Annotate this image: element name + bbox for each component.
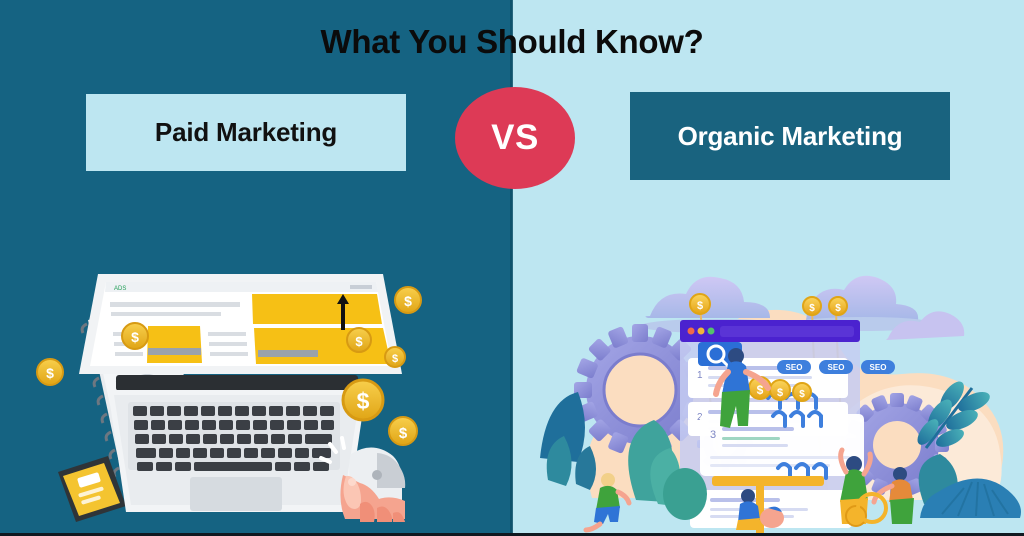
coin: $ bbox=[793, 383, 811, 401]
coin: $ bbox=[803, 297, 821, 315]
laptop-base bbox=[108, 375, 366, 512]
svg-text:SEO: SEO bbox=[870, 363, 887, 372]
paid-marketing-illustration: ADS bbox=[30, 262, 470, 532]
yellow-id-card-icon bbox=[58, 456, 126, 522]
organic-marketing-label: Organic Marketing bbox=[630, 92, 950, 180]
coin: $ bbox=[385, 347, 405, 367]
svg-text:$: $ bbox=[392, 353, 398, 365]
svg-text:$: $ bbox=[357, 388, 370, 414]
coin: $ bbox=[395, 287, 421, 313]
svg-text:SEO: SEO bbox=[786, 363, 803, 372]
svg-text:$: $ bbox=[131, 329, 139, 345]
svg-text:$: $ bbox=[809, 303, 815, 314]
organic-marketing-illustration: 1 2 3 bbox=[540, 268, 1024, 533]
svg-text:ADS: ADS bbox=[114, 286, 126, 292]
svg-text:1: 1 bbox=[697, 370, 703, 381]
coin: $ bbox=[347, 328, 371, 352]
laptop-trackpad bbox=[190, 477, 282, 511]
browser-address-bar[interactable] bbox=[720, 326, 854, 337]
coin: $ bbox=[770, 380, 790, 400]
svg-text:$: $ bbox=[46, 365, 54, 381]
laptop-keyboard bbox=[128, 402, 340, 471]
svg-text:$: $ bbox=[355, 334, 363, 349]
window-close-dot[interactable] bbox=[688, 328, 695, 335]
svg-text:3: 3 bbox=[710, 429, 716, 441]
svg-text:$: $ bbox=[404, 293, 412, 309]
poster-canvas: What You Should Know? Paid Marketing Org… bbox=[0, 0, 1024, 536]
coin: $ bbox=[829, 297, 847, 315]
paid-marketing-label: Paid Marketing bbox=[86, 94, 406, 171]
coin: $ bbox=[690, 294, 710, 314]
seo-tag-pills: SEO SEO SEO bbox=[777, 360, 895, 374]
coin: $ bbox=[122, 323, 148, 349]
window-maximize-dot[interactable] bbox=[708, 328, 715, 335]
page-title: What You Should Know? bbox=[0, 20, 1024, 64]
laptop-screen: ADS bbox=[79, 274, 402, 374]
coin: $ bbox=[37, 359, 63, 385]
svg-text:SEO: SEO bbox=[828, 363, 845, 372]
coin: $ bbox=[389, 417, 417, 445]
window-minimize-dot[interactable] bbox=[698, 328, 705, 335]
vs-badge: VS bbox=[455, 87, 575, 189]
svg-text:$: $ bbox=[799, 389, 805, 400]
svg-text:$: $ bbox=[399, 425, 408, 442]
coin: $ bbox=[343, 380, 383, 420]
vertical-divider bbox=[510, 0, 513, 536]
svg-text:$: $ bbox=[835, 303, 841, 314]
svg-text:$: $ bbox=[697, 300, 703, 312]
svg-text:$: $ bbox=[777, 387, 783, 399]
